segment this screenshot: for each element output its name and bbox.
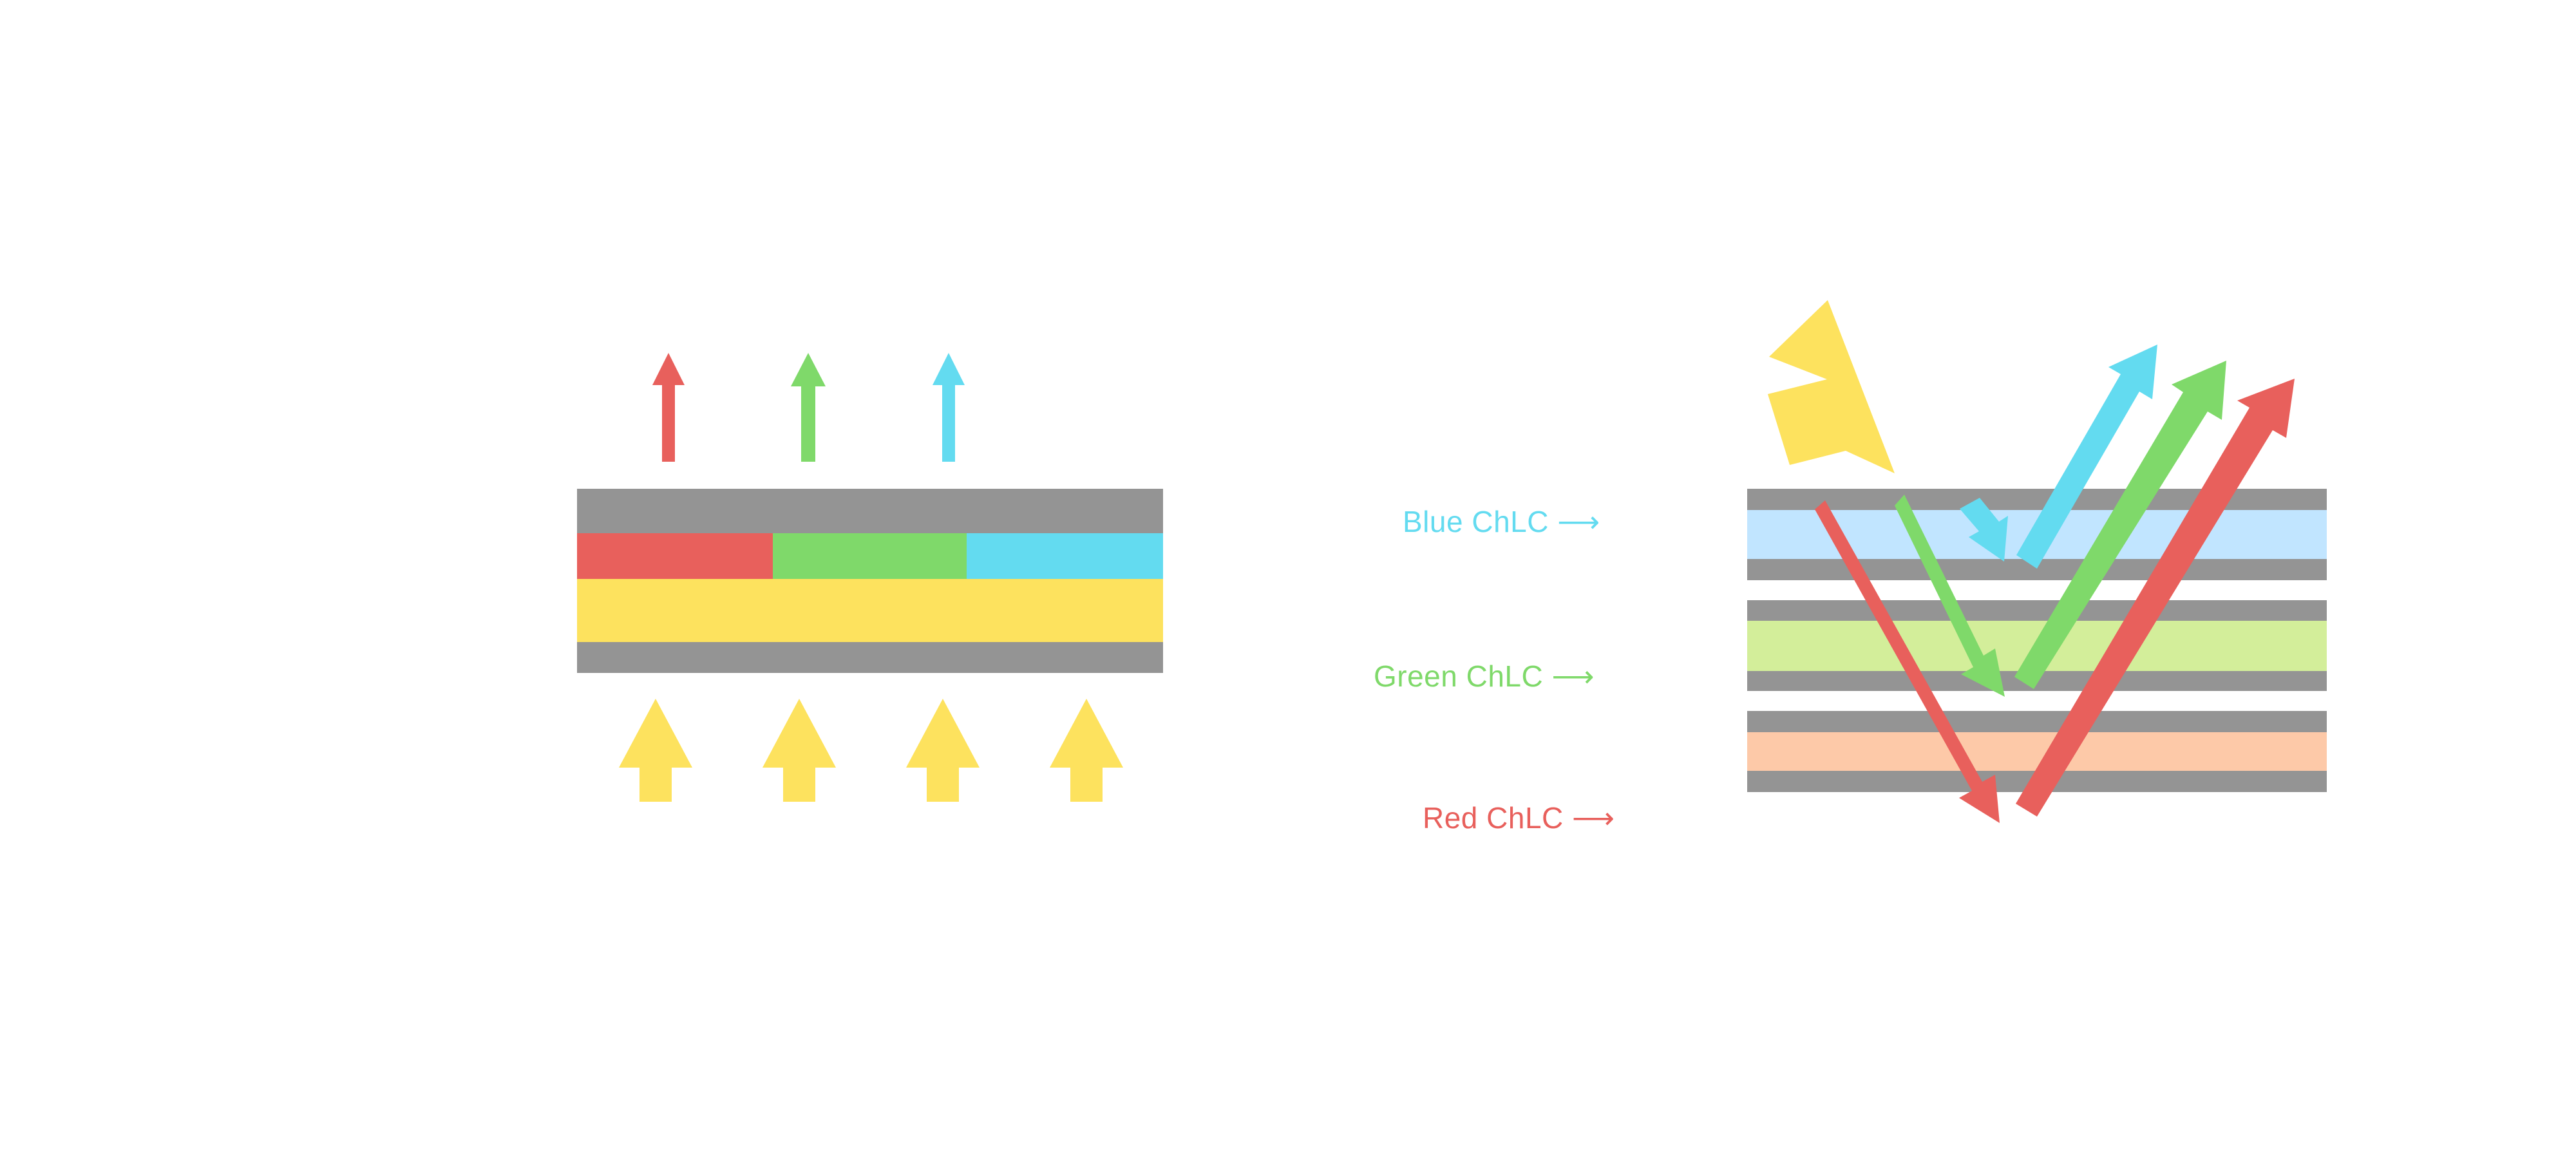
backlight-arrows-group — [619, 699, 1123, 802]
ambient-light-arrow — [1768, 300, 1895, 473]
backlight-arrow-3 — [906, 699, 980, 802]
backlight-arrow-2 — [762, 699, 836, 802]
top-electrode-layer — [577, 489, 1163, 533]
bottom-electrode-layer — [577, 642, 1163, 673]
red-emitted-arrow — [652, 353, 685, 462]
alignment-layer-5 — [1747, 711, 2327, 732]
red-chlc-layer — [1747, 732, 2327, 771]
green-filter-segment — [773, 533, 967, 579]
diagram-canvas: Blue ChLC ⟶ Green ChLC ⟶ Red ChLC ⟶ — [0, 0, 2576, 1154]
blue-filter-segment — [967, 533, 1163, 579]
backlight-arrow-1 — [619, 699, 692, 802]
left-panel-group — [577, 353, 1163, 802]
red-chlc-label: Red ChLC ⟶ — [1423, 800, 1615, 835]
backlight-layer — [577, 579, 1163, 642]
blue-emitted-arrow — [933, 353, 965, 462]
blue-chlc-label: Blue ChLC ⟶ — [1403, 504, 1600, 539]
backlight-arrow-4 — [1050, 699, 1123, 802]
alignment-layer-1 — [1747, 489, 2327, 510]
emitted-arrows-group — [652, 353, 965, 462]
red-filter-segment — [577, 533, 773, 579]
diagram-svg — [0, 0, 2576, 1154]
green-emitted-arrow — [791, 353, 826, 462]
alignment-layer-3 — [1747, 600, 2327, 621]
right-panel-group — [1747, 300, 2327, 823]
green-chlc-label: Green ChLC ⟶ — [1374, 659, 1595, 694]
